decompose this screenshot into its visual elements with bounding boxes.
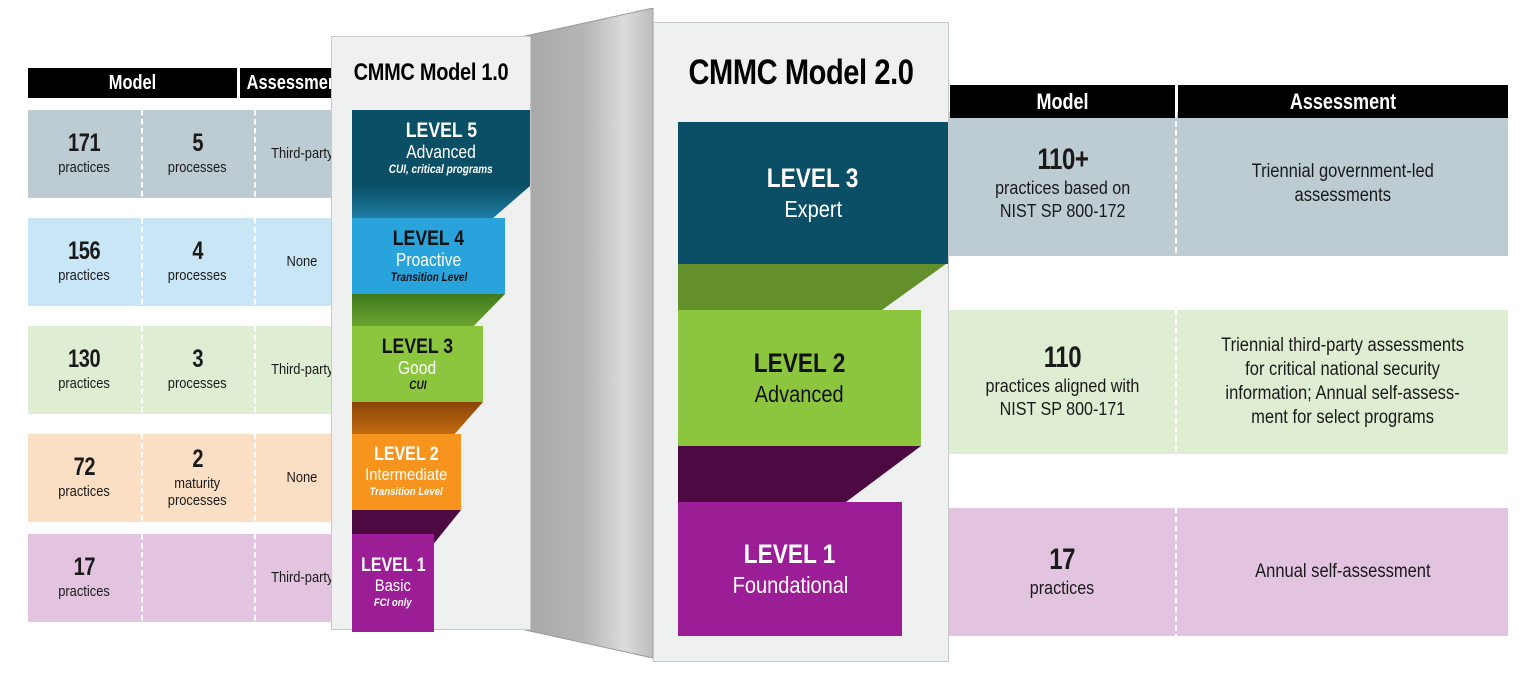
practices-count: 171 bbox=[68, 131, 100, 156]
level-name: LEVEL 3 bbox=[382, 336, 453, 357]
cell-practices: 156 practices bbox=[28, 218, 141, 306]
level-note: CUI, critical programs bbox=[389, 164, 493, 176]
infographic-root: 171 practices 5 processes Third-party 15… bbox=[0, 0, 1536, 688]
level-name: LEVEL 2 bbox=[374, 445, 438, 464]
level-note: Transition Level bbox=[390, 272, 467, 284]
table-row: 17 practices Annual self-assessment bbox=[890, 508, 1508, 636]
table-row: 130 practices 3 processes Third-party bbox=[28, 326, 350, 414]
cell-practices: 171 practices bbox=[28, 110, 141, 198]
assessment-description: Triennial government-led assessments bbox=[1251, 160, 1433, 208]
assessment-value: Third-party bbox=[271, 361, 333, 379]
practices-unit: practices bbox=[59, 267, 111, 284]
right-header-model-label: Model bbox=[970, 85, 1155, 118]
processes-count: 5 bbox=[192, 131, 203, 156]
left-header-assessment-label: Assessment bbox=[250, 68, 340, 98]
level-subtitle: Foundational bbox=[732, 573, 848, 597]
cmmc-1-level-3: LEVEL 3 Good CUI bbox=[352, 326, 483, 402]
table-row: 171 practices 5 processes Third-party bbox=[28, 110, 350, 198]
cell-processes: 3 processes bbox=[141, 326, 254, 414]
cell-processes: 4 processes bbox=[141, 218, 254, 306]
cmmc-1-level-5: LEVEL 5 Advanced CUI, critical programs bbox=[352, 110, 530, 186]
level-name: LEVEL 4 bbox=[393, 228, 464, 249]
assessment-description: Triennial third-party assessments for cr… bbox=[1221, 334, 1464, 430]
cmmc-2-level-2: LEVEL 2 Advanced bbox=[678, 310, 921, 446]
cell-processes bbox=[141, 534, 254, 622]
practices-unit: practices bbox=[59, 483, 111, 500]
cmmc-2-level-3: LEVEL 3 Expert bbox=[678, 122, 948, 264]
level-note: CUI bbox=[409, 380, 426, 392]
practices-unit: practices bbox=[59, 583, 111, 600]
practices-count: 17 bbox=[74, 555, 95, 580]
practices-count: 156 bbox=[68, 239, 100, 264]
cell-assessment: Triennial third-party assessments for cr… bbox=[1177, 310, 1508, 454]
level-name: LEVEL 3 bbox=[767, 165, 859, 192]
ribbon-level2-to-level1 bbox=[678, 446, 928, 502]
right-header-assessment-label: Assessment bbox=[1208, 85, 1479, 118]
level-subtitle: Advanced bbox=[406, 143, 476, 162]
level-name: LEVEL 2 bbox=[754, 350, 846, 377]
assessment-value: Third-party bbox=[271, 145, 333, 163]
cmmc-2-level-1: LEVEL 1 Foundational bbox=[678, 502, 902, 636]
level-subtitle: Intermediate bbox=[365, 466, 447, 484]
cell-model: 110 practices aligned with NIST SP 800-1… bbox=[950, 310, 1175, 454]
processes-count: 3 bbox=[192, 347, 203, 372]
cell-practices: 130 practices bbox=[28, 326, 141, 414]
cmmc-1-title: CMMC Model 1.0 bbox=[349, 59, 513, 87]
level-subtitle: Advanced bbox=[755, 382, 844, 406]
assessment-value: None bbox=[287, 253, 318, 271]
level-name: LEVEL 5 bbox=[405, 120, 476, 141]
practices-count: 130 bbox=[68, 347, 100, 372]
processes-count: 2 bbox=[192, 447, 203, 472]
processes-unit: processes bbox=[168, 375, 227, 392]
processes-unit: processes bbox=[168, 159, 227, 176]
assessment-value: None bbox=[287, 469, 318, 487]
cell-assessment: Annual self-assessment bbox=[1177, 508, 1508, 636]
level-subtitle: Expert bbox=[784, 197, 842, 221]
cell-processes: 5 processes bbox=[141, 110, 254, 198]
practices-count: 72 bbox=[74, 455, 95, 480]
model-count: 17 bbox=[1050, 545, 1076, 575]
cell-processes: 2 maturity processes bbox=[141, 434, 254, 522]
cmmc-1-level-2: LEVEL 2 Intermediate Transition Level bbox=[352, 434, 461, 510]
left-header-model-label: Model bbox=[47, 68, 218, 98]
cmmc-1-level-4: LEVEL 4 Proactive Transition Level bbox=[352, 218, 505, 294]
model-description: practices based on NIST SP 800-172 bbox=[995, 177, 1130, 222]
processes-count: 4 bbox=[192, 239, 203, 264]
cmmc-1-level-1: LEVEL 1 Basic FCI only bbox=[352, 534, 434, 632]
assessment-value: Third-party bbox=[271, 569, 333, 587]
left-header-model: Model bbox=[28, 68, 237, 98]
level-subtitle: Proactive bbox=[396, 251, 461, 270]
level-note: Transition Level bbox=[370, 487, 443, 499]
table-row: 110+ practices based on NIST SP 800-172 … bbox=[890, 112, 1508, 256]
level-subtitle: Basic bbox=[375, 577, 411, 595]
model-count: 110+ bbox=[1037, 145, 1088, 175]
level-name: LEVEL 1 bbox=[744, 541, 836, 568]
cell-assessment: Triennial government-led assessments bbox=[1177, 112, 1508, 256]
table-row: 17 practices Third-party bbox=[28, 534, 350, 622]
model-count: 110 bbox=[1044, 343, 1082, 373]
practices-unit: practices bbox=[59, 159, 111, 176]
cmmc-2-title: CMMC Model 2.0 bbox=[679, 53, 923, 93]
right-header-assessment: Assessment bbox=[1178, 85, 1508, 118]
cell-model: 110+ practices based on NIST SP 800-172 bbox=[950, 112, 1175, 256]
model-description: practices bbox=[1030, 577, 1094, 600]
cell-model: 17 practices bbox=[950, 508, 1175, 636]
level-name: LEVEL 1 bbox=[361, 556, 425, 575]
practices-unit: practices bbox=[59, 375, 111, 392]
assessment-description: Annual self-assessment bbox=[1255, 560, 1430, 584]
model-description: practices aligned with NIST SP 800-171 bbox=[986, 375, 1140, 420]
right-header-model: Model bbox=[950, 85, 1175, 118]
cell-practices: 72 practices bbox=[28, 434, 141, 522]
cell-practices: 17 practices bbox=[28, 534, 141, 622]
table-row: 110 practices aligned with NIST SP 800-1… bbox=[890, 310, 1508, 454]
level-subtitle: Good bbox=[398, 359, 436, 378]
processes-unit: maturity processes bbox=[168, 475, 227, 509]
table-row: 156 practices 4 processes None bbox=[28, 218, 350, 306]
processes-unit: processes bbox=[168, 267, 227, 284]
table-row: 72 practices 2 maturity processes None bbox=[28, 434, 350, 522]
level-note: FCI only bbox=[374, 598, 412, 610]
